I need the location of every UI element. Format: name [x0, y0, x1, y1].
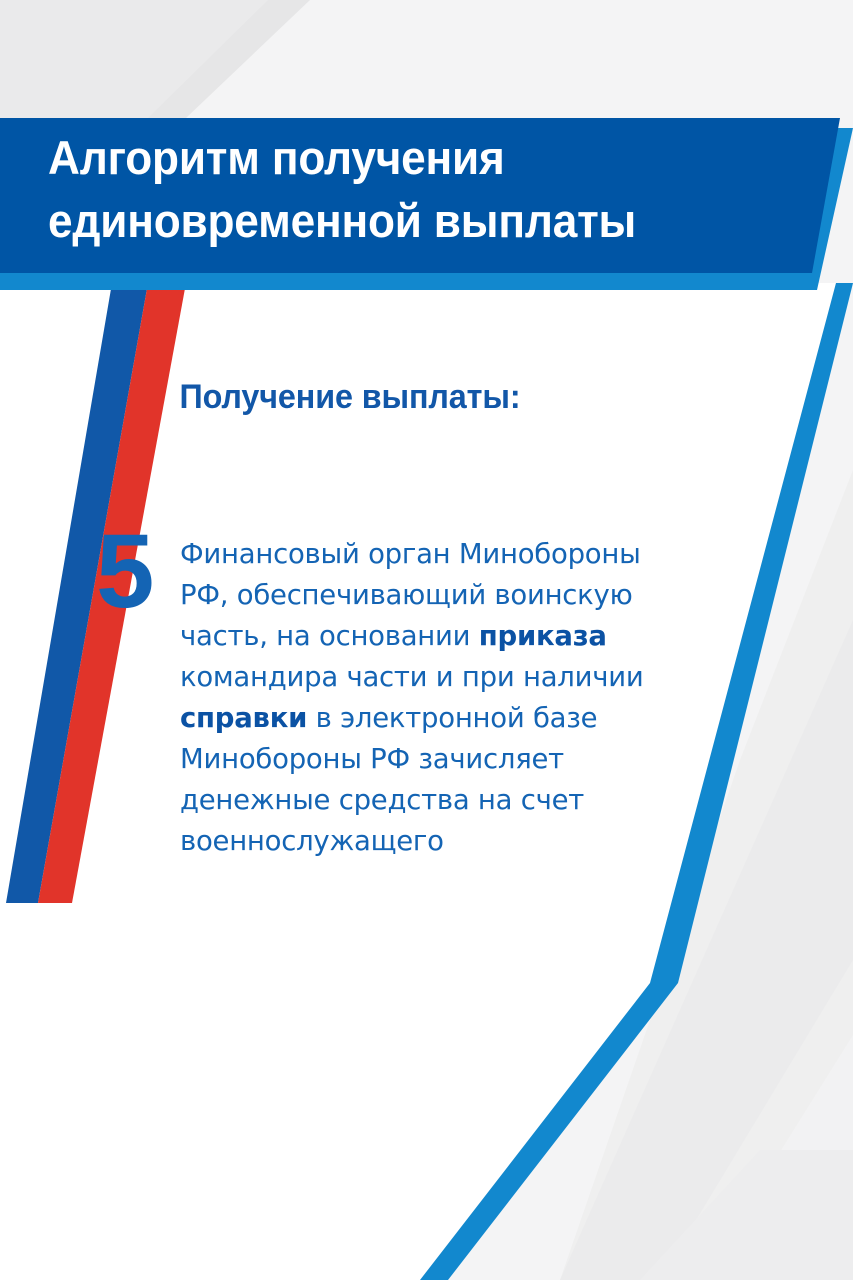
section-heading: Получение выплаты: — [18, 378, 683, 417]
step-description: Финансовый орган Минобороны РФ, обеспечи… — [180, 534, 650, 862]
poster-root: Алгоритм получения единовременной выплат… — [0, 0, 853, 1280]
page-title: Алгоритм получения единовременной выплат… — [48, 127, 744, 253]
step-number: 5 — [96, 519, 151, 624]
